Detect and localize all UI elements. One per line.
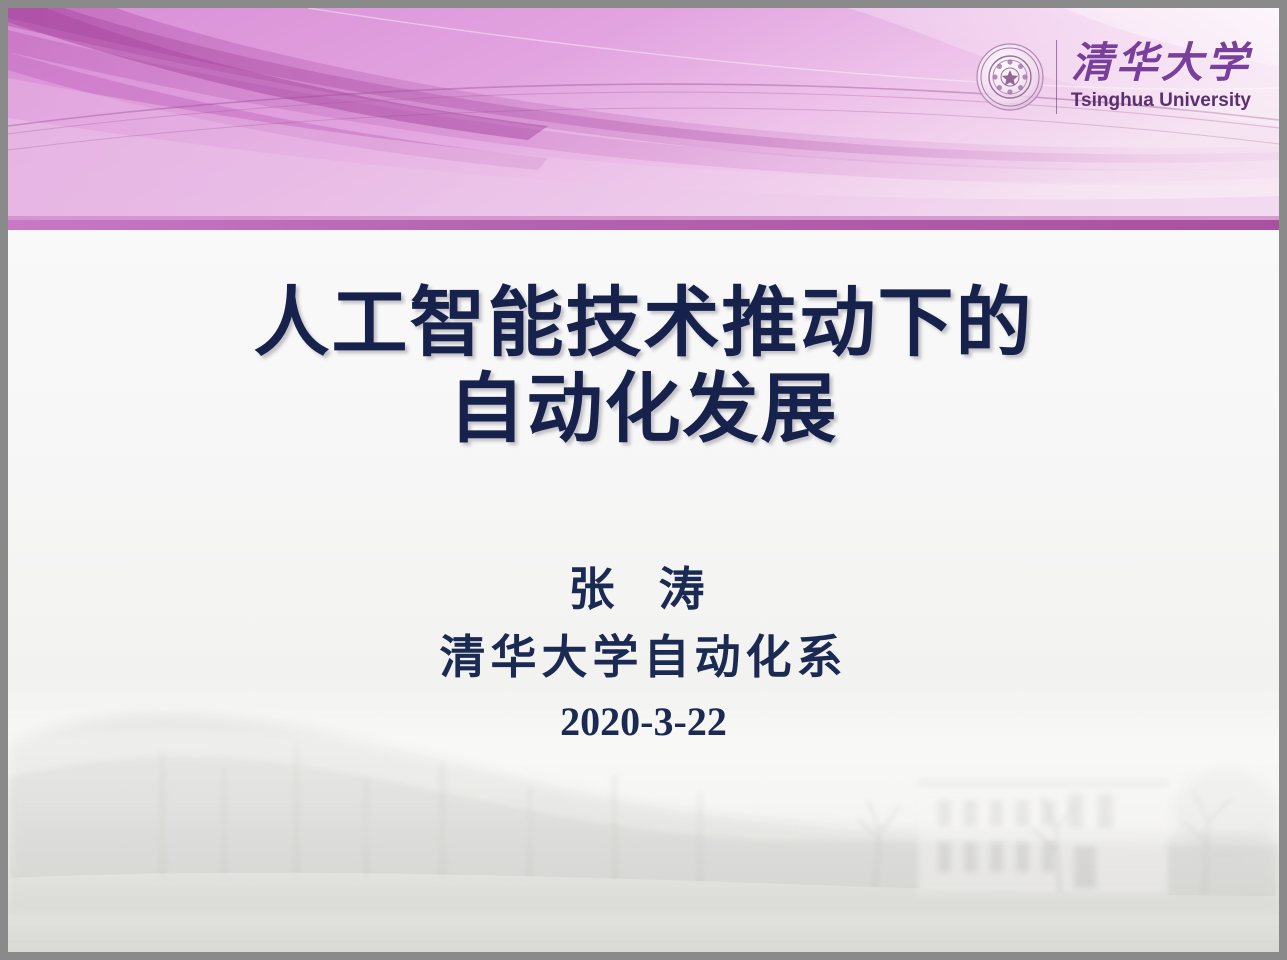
logo-chinese-name: 清华大学 (1071, 42, 1251, 84)
slide-metadata: 张 涛 清华大学自动化系 2020-3-22 (8, 560, 1279, 746)
tsinghua-logo-lockup: 清华大学 Tsinghua University (974, 34, 1251, 120)
slide-title: 人工智能技术推动下的 自动化发展 (8, 280, 1279, 452)
title-line-1: 人工智能技术推动下的 (8, 280, 1279, 366)
logo-divider (1056, 40, 1057, 114)
presentation-date: 2020-3-22 (8, 698, 1279, 746)
tsinghua-seal-icon (974, 41, 1046, 113)
author-name: 张 涛 (8, 560, 1279, 619)
slide-frame: 清华大学 Tsinghua University 人工智能技术推动下的 自动化发… (0, 0, 1287, 960)
author-affiliation: 清华大学自动化系 (8, 629, 1279, 687)
title-line-2: 自动化发展 (8, 366, 1279, 452)
logo-english-name: Tsinghua University (1071, 90, 1251, 112)
logo-wordmark: 清华大学 Tsinghua University (1071, 42, 1251, 112)
